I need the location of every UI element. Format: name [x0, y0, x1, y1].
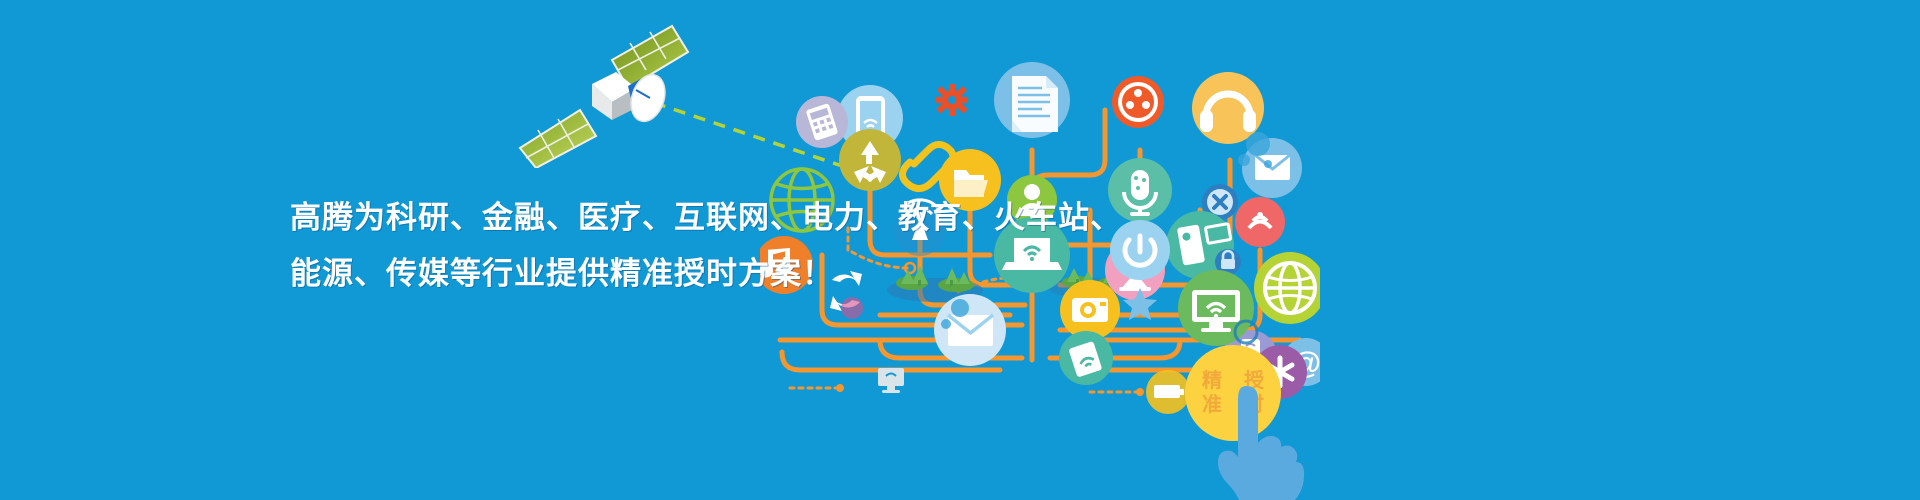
headline-block: 高腾为科研、金融、医疗、互联网、电力、教育、火车站、 能源、传媒等行业提供精准授… — [290, 190, 930, 302]
document-icon — [994, 62, 1070, 138]
headline-line-2: 能源、传媒等行业提供精准授时方案！ — [290, 246, 930, 302]
battery-icon — [1146, 370, 1190, 414]
display-screen-icon — [878, 368, 904, 393]
recycle-icon — [839, 129, 901, 191]
mail-envelope-large-icon — [934, 294, 1006, 366]
nfc-tag-icon — [1059, 331, 1113, 385]
headline-line-1: 高腾为科研、金融、医疗、互联网、电力、教育、火车站、 — [290, 190, 930, 246]
camera-icon — [1060, 280, 1120, 340]
globe-grid-icon — [1254, 252, 1320, 324]
hero-banner: @ — [0, 0, 1920, 500]
wifi-signal-icon — [1235, 197, 1285, 247]
gear-icon — [936, 84, 968, 116]
satellite-icon — [500, 18, 690, 168]
pointing-hand-icon — [1210, 382, 1320, 500]
calculator-icon — [796, 96, 848, 148]
film-reel-icon — [1112, 76, 1164, 128]
monitor-wifi-icon — [1178, 270, 1254, 346]
